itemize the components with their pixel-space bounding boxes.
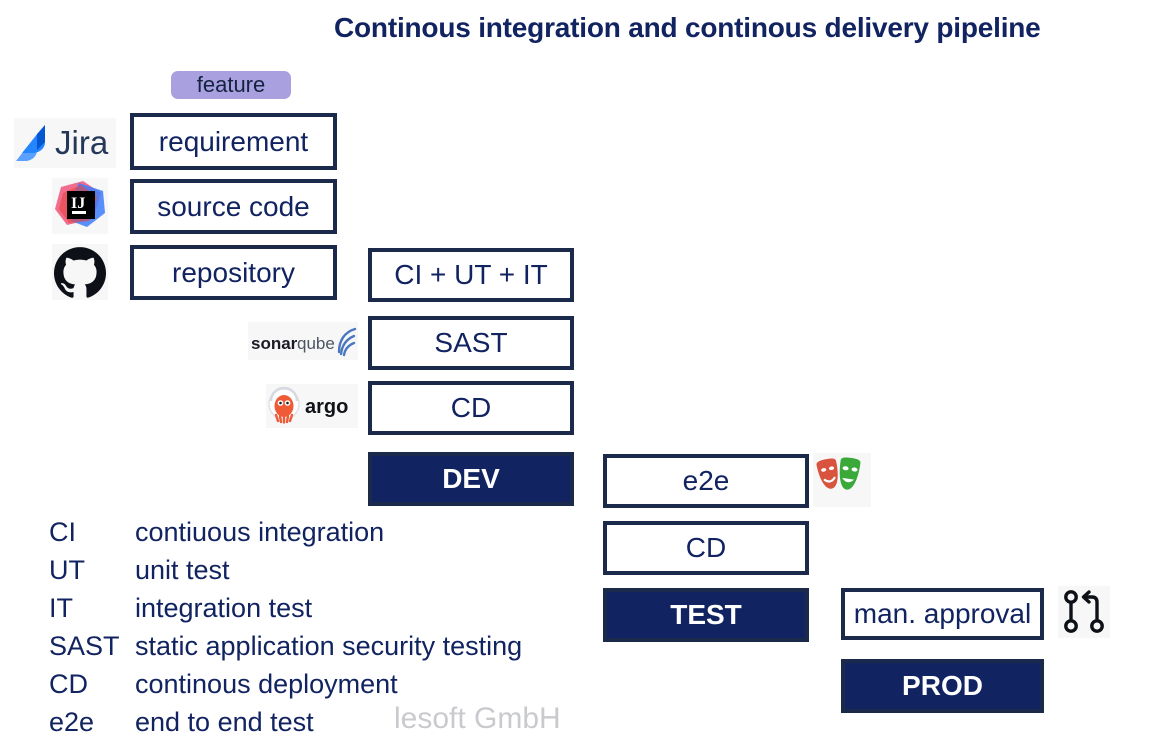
jira-logo: Jira	[14, 118, 116, 168]
legend-abbr: e2e	[49, 703, 135, 741]
legend-row: CD continous deployment	[49, 665, 522, 703]
sonarqube-logo: sonar qube	[248, 322, 358, 360]
legend-desc: contiuous integration	[135, 513, 384, 551]
argo-logo: argo	[266, 384, 358, 428]
stage-box-dev[interactable]: DEV	[368, 452, 574, 506]
legend-row: CI contiuous integration	[49, 513, 522, 551]
stage-box-prod[interactable]: PROD	[841, 659, 1044, 713]
legend-row: SAST static application security testing	[49, 627, 522, 665]
legend-desc: end to end test	[135, 703, 314, 741]
page-title: Continous integration and continous deli…	[334, 12, 1124, 44]
legend-abbr: SAST	[49, 627, 135, 665]
stage-box-e2e[interactable]: e2e	[603, 454, 809, 508]
sonarqube-logo-text-bold: sonar	[251, 334, 298, 353]
intellij-idea-logo: IJ	[52, 178, 108, 234]
legend-abbr: CD	[49, 665, 135, 703]
stage-box-source-code[interactable]: source code	[130, 179, 337, 234]
legend-abbr: UT	[49, 551, 135, 589]
legend-row: UT unit test	[49, 551, 522, 589]
stage-box-cd-deploy[interactable]: CD	[603, 521, 809, 575]
argo-logo-text: argo	[305, 396, 348, 418]
pull-request-icon	[1058, 586, 1110, 638]
legend-row: IT integration test	[49, 589, 522, 627]
feature-badge: feature	[171, 71, 291, 99]
jira-logo-text: Jira	[55, 124, 109, 161]
stage-box-requirement[interactable]: requirement	[130, 113, 337, 170]
watermark: lesoft GmbH	[394, 702, 561, 736]
stage-box-man-approval[interactable]: man. approval	[841, 588, 1044, 640]
stage-box-cd-build[interactable]: CD	[368, 381, 574, 435]
svg-text:IJ: IJ	[71, 195, 85, 212]
ci-cd-pipeline-diagram: Continous integration and continous deli…	[0, 0, 1155, 755]
legend-desc: static application security testing	[135, 627, 522, 665]
github-logo	[52, 244, 108, 300]
legend-desc: continous deployment	[135, 665, 398, 703]
legend-desc: integration test	[135, 589, 312, 627]
legend-abbr: CI	[49, 513, 135, 551]
stage-box-test[interactable]: TEST	[603, 588, 809, 642]
legend-desc: unit test	[135, 551, 230, 589]
stage-box-sast[interactable]: SAST	[368, 316, 574, 370]
stage-box-repository[interactable]: repository	[130, 245, 337, 300]
sonarqube-logo-text-light: qube	[297, 334, 335, 353]
stage-box-ci-ut-it[interactable]: CI + UT + IT	[368, 248, 574, 302]
theater-masks-icon	[813, 453, 871, 507]
legend-abbr: IT	[49, 589, 135, 627]
